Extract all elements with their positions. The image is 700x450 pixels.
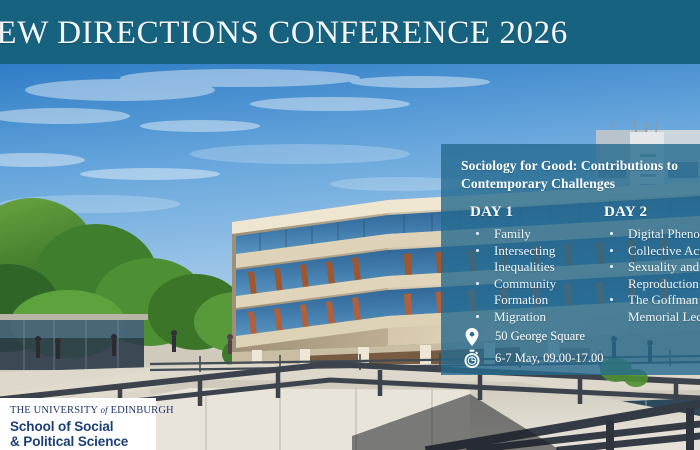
bullet-icon xyxy=(476,282,479,285)
day-1-title: DAY 1 xyxy=(470,204,595,221)
list-item: Sexuality and Reproduction xyxy=(604,259,700,292)
session-label-cont: Reproduction xyxy=(628,276,700,293)
list-item: Community Formation xyxy=(470,276,595,309)
session-label-cont: Formation xyxy=(494,292,595,309)
list-item: The Goffman Memorial Lecture xyxy=(604,292,700,325)
session-label: Sexuality and xyxy=(628,259,700,276)
logo-text-of: of xyxy=(101,405,108,415)
list-item: Family xyxy=(470,226,595,243)
session-label: The Goffman xyxy=(628,292,700,309)
conference-theme-heading: Sociology for Good: Contributions to Con… xyxy=(461,157,700,193)
event-details: 50 George Square 6-7 May, 09.00-17 xyxy=(461,326,700,370)
logo-text-post: EDINBURGH xyxy=(108,405,174,416)
venue-row: 50 George Square xyxy=(461,326,700,348)
datetime-row: 6-7 May, 09.00-17.00 xyxy=(461,348,700,370)
bullet-icon xyxy=(610,298,613,301)
header-bar: NEW DIRECTIONS CONFERENCE 2026 xyxy=(0,0,700,64)
day-2-column: DAY 2 Digital Phenomena Collective Actio… xyxy=(604,204,700,325)
list-item: Intersecting Inequalities xyxy=(470,243,595,276)
session-label: Collective Action xyxy=(628,243,700,260)
session-label: Migration xyxy=(494,309,595,326)
day-1-session-list: Family Intersecting Inequalities Communi… xyxy=(470,226,595,325)
logo-university-line: THE UNIVERSITY of EDINBURGH xyxy=(10,404,156,417)
day-2-title: DAY 2 xyxy=(604,204,700,221)
session-label: Community xyxy=(494,276,595,293)
logo-text-pre: THE UNIVERSITY xyxy=(10,405,101,416)
stopwatch-icon xyxy=(463,349,481,369)
conference-poster: NEW DIRECTIONS CONFERENCE 2026 Sociology… xyxy=(0,0,700,450)
conference-info-panel: Sociology for Good: Contributions to Con… xyxy=(441,144,700,375)
session-label: Family xyxy=(494,226,595,243)
session-label: Intersecting xyxy=(494,243,595,260)
university-logo: THE UNIVERSITY of EDINBURGH School of So… xyxy=(0,398,156,450)
venue-text: 50 George Square xyxy=(495,329,585,343)
bullet-icon xyxy=(610,249,613,252)
day-2-session-list: Digital Phenomena Collective Action Sexu… xyxy=(604,226,700,325)
day-1-column: DAY 1 Family Intersecting Inequalities C… xyxy=(470,204,595,325)
list-item: Migration xyxy=(470,309,595,326)
list-item: Digital Phenomena xyxy=(604,226,700,243)
session-label: Digital Phenomena xyxy=(628,226,700,243)
session-label-cont: Memorial Lecture xyxy=(628,309,700,326)
location-pin-icon xyxy=(463,327,481,347)
bullet-icon xyxy=(610,232,613,235)
bullet-icon xyxy=(610,265,613,268)
session-label-cont: Inequalities xyxy=(494,259,595,276)
bullet-icon xyxy=(476,232,479,235)
logo-school-line-2: & Political Science xyxy=(10,434,156,449)
page-title: NEW DIRECTIONS CONFERENCE 2026 xyxy=(0,16,568,50)
logo-school-line-1: School of Social xyxy=(10,419,156,434)
bullet-icon xyxy=(476,249,479,252)
list-item: Collective Action xyxy=(604,243,700,260)
datetime-text: 6-7 May, 09.00-17.00 xyxy=(495,351,604,365)
bullet-icon xyxy=(476,315,479,318)
